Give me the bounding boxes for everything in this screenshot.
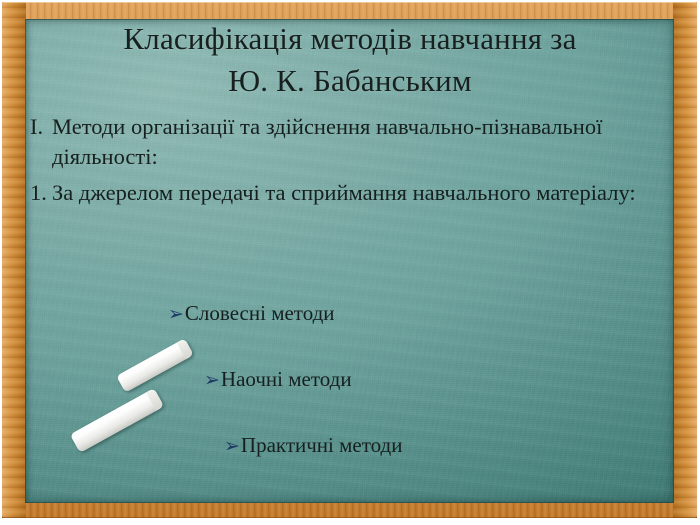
title-line-2: Ю. К. Бабанським — [0, 60, 700, 102]
slide-canvas: Класифікація методів навчання за Ю. К. Б… — [0, 0, 700, 525]
list-item-text: За джерелом передачі та сприймання навча… — [52, 178, 678, 208]
bullet-item-visual-methods: ➢Наочні методи — [204, 366, 700, 394]
list-item: I. Методи організації та здійснення навч… — [30, 112, 678, 172]
arrow-bullet-icon: ➢ — [204, 370, 220, 391]
arrow-bullet-icon: ➢ — [224, 436, 240, 457]
bullet-item-label: Наочні методи — [221, 367, 352, 391]
slide-title: Класифікація методів навчання за Ю. К. Б… — [0, 18, 700, 102]
bullet-item-label: Словесні методи — [185, 301, 335, 325]
arrow-bullet-icon: ➢ — [168, 304, 184, 325]
bullet-item-verbal-methods: ➢Словесні методи — [168, 300, 700, 328]
bullet-item-label: Практичні методи — [241, 433, 403, 457]
slide-content: Класифікація методів навчання за Ю. К. Б… — [0, 0, 700, 525]
title-line-1: Класифікація методів навчання за — [123, 21, 576, 56]
list-item-marker: I. — [30, 112, 52, 142]
list-item: 1. За джерелом передачі та сприймання на… — [30, 178, 678, 208]
numbered-list: I. Методи організації та здійснення навч… — [30, 112, 678, 214]
bullet-item-practical-methods: ➢Практичні методи — [224, 432, 700, 460]
list-item-marker: 1. — [30, 178, 52, 208]
list-item-text: Методи організації та здійснення навчаль… — [52, 112, 678, 172]
bullet-list: ➢Словесні методи ➢Наочні методи ➢Практич… — [0, 300, 700, 460]
